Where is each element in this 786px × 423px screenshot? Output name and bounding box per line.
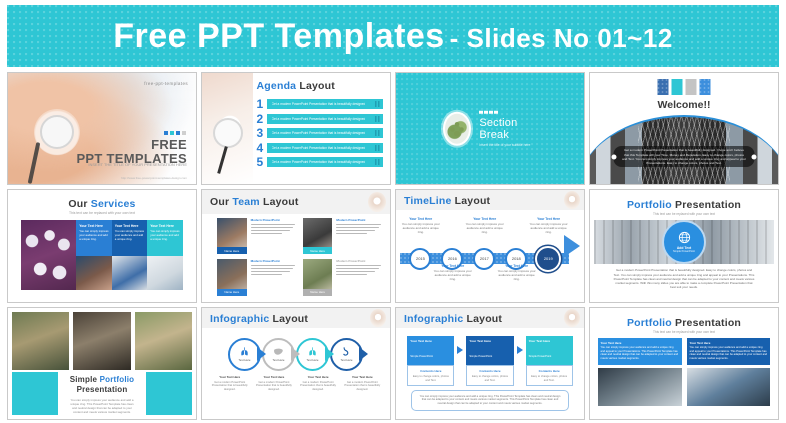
services-subtitle: This text can be replaced with your own … [8,211,196,215]
agenda-item-list: 1 Get a modern PowerPoint Presentation t… [257,99,383,172]
agenda-item-label: Get a modern PowerPoint Presentation tha… [272,160,366,164]
chevron-right-icon [291,347,300,361]
portfolio-panel-heading: Your Text Here [690,341,768,345]
timeline-caption: Your Text Here You can simply impress yo… [400,217,442,234]
infographic-step-label: Text Here [273,358,285,362]
infographic-caption-body: Get a modern PowerPoint Presentation tha… [256,381,292,391]
team-member-photo: Name Here [217,218,247,254]
portfolio-body-text: Get a modern PowerPoint Presentation tha… [613,268,756,289]
simple-portfolio-body: You can simply impress your audience and… [58,398,145,414]
portfolio-subtitle: This text can be replaced with your own … [590,330,778,334]
team-member-photo: Name Here [217,259,247,295]
agenda-item[interactable]: 3 Get a modern PowerPoint Presentation t… [257,128,383,138]
timeline-caption-body: You can simply impress your audience and… [434,269,472,281]
team-member-role: Modern PowerPoint [336,259,380,263]
services-card-photo [112,256,148,289]
child-photo [135,312,192,370]
agenda-item[interactable]: 4 Get a modern PowerPoint Presentation t… [257,143,383,153]
slide-thumb-our-team[interactable]: Our Team Layout Name Here Modern PowerPo… [201,189,391,302]
simple-title-line2: Presentation [58,385,145,394]
infographic-col-title: Your Text Here [529,339,570,343]
services-card-strip: Your Text Here You can simply impress yo… [21,220,183,289]
portfolio-title-accent: Portfolio [627,317,672,329]
services-title-pre: Our [68,198,90,210]
slide-thumb-our-services[interactable]: Our Services This text can be replaced w… [7,189,197,302]
timeline-arrow-icon [564,235,580,257]
infographic-col-title: Your Text Here [469,339,510,343]
cover-subtitle: INSERT THE TITLE OF YOUR PRESENTATION HE… [88,162,187,168]
slide-thumb-agenda[interactable]: Agenda Layout 1 Get a modern PowerPoint … [201,72,391,185]
accent-block-left [12,372,58,415]
timeline-caption-title: Your Text Here [400,217,442,221]
logo-text: free-ppt-templates [144,81,188,86]
portfolio-globe-badge[interactable]: Add Text Simple PowerPoint [662,220,706,264]
services-title-accent: Services [91,198,136,210]
simple-portfolio-caption: Simple Portfolio Presentation You can si… [58,372,145,415]
infographic-col-sub: Simple PowerPoint [410,355,433,358]
team-member-name: Name Here [217,289,247,296]
portfolio-title: Portfolio Presentation [590,317,778,329]
agenda-item-number: 3 [257,128,267,138]
slide-thumb-timeline[interactable]: TimeLine Layout 2015 2016 2017 2018 2019… [395,189,585,302]
infographic-title-rest: Layout [273,313,309,325]
agenda-item-label: Get a modern PowerPoint Presentation tha… [272,117,366,121]
infographic-column-row: Your Text HereSimple PowerPoint Contents… [407,336,572,387]
timeline-node-year: 2019 [544,256,553,261]
infographic-step-label: Text Here [239,358,251,362]
agenda-item-label: Get a modern PowerPoint Presentation tha… [272,146,366,150]
stethoscope-corner-photo [370,309,386,327]
lungs-icon [307,346,318,357]
team-title: Our Team Layout [210,196,299,208]
slide-thumb-simple-portfolio[interactable]: Simple Portfolio Presentation You can si… [7,307,197,420]
timeline-caption-title: Your Text Here [464,217,506,221]
portfolio-title-rest: Presentation [675,317,741,329]
portfolio-title: Portfolio Presentation [590,199,778,211]
infographic-box-body: Easy to change colors, photos and Text. [470,375,509,382]
infographic-box-title: Contents Here [470,369,509,373]
timeline-title: TimeLine Layout [404,195,490,207]
simple-title-pre: Simple [70,375,100,384]
services-card[interactable]: Your Text Here You can simply impress yo… [112,220,148,289]
timeline-node[interactable]: 2015 [409,248,431,270]
agenda-item[interactable]: 2 Get a modern PowerPoint Presentation t… [257,114,383,124]
timeline-caption: Your Text Here You can simply impress yo… [464,217,506,234]
timeline-caption-body: You can simply impress your audience and… [530,222,568,234]
timeline-node-year: 2018 [512,256,521,261]
infographic-col-sub: Simple PowerPoint [469,355,492,358]
agenda-item-bar: Get a modern PowerPoint Presentation tha… [267,157,383,167]
agenda-item-bar: Get a modern PowerPoint Presentation tha… [267,143,383,153]
services-card-body: You can simply impress your audience and… [115,230,145,241]
section-break-title: Section Break [479,117,537,141]
agenda-item-number: 4 [257,143,267,153]
infographic-footer-note: You can simply impress your audience and… [411,390,569,411]
child-photo [73,312,130,370]
color-swatches [658,79,711,95]
timeline-node-year: 2015 [416,256,425,261]
agenda-item-label: Get a modern PowerPoint Presentation tha… [272,102,366,106]
infographic-title: Infographic Layout [404,313,502,325]
agenda-item[interactable]: 5 Get a modern PowerPoint Presentation t… [257,157,383,167]
banner-title-sub: - Slides No 01~12 [450,23,673,53]
cover-title-line1: FREE [76,138,187,152]
portfolio-panel-pair: Your Text HereYou can simply impress you… [598,338,771,406]
team-member[interactable]: Name Here Modern PowerPoint [303,218,381,254]
infographic-caption-title: Your Text Here [255,376,293,380]
timeline-caption: Your Text Here You can simply impress yo… [432,264,474,281]
surgery-photo [687,368,771,406]
welcome-title: Welcome!! [658,99,711,111]
timeline-caption-body: You can simply impress your audience and… [402,222,440,234]
infographic-column[interactable]: Your Text HereSimple PowerPoint Contents… [407,336,454,387]
portfolio-subtitle: This text can be replaced with your own … [590,212,778,216]
team-member[interactable]: Name Here Modern PowerPoint [303,259,381,295]
agenda-item-bar: Get a modern PowerPoint Presentation tha… [267,128,383,138]
infographic-title: Infographic Layout [210,313,308,325]
portfolio-panel-body: You can simply impress your audience and… [601,346,679,360]
liver-icon [273,346,284,357]
stomach-icon [341,346,352,357]
accent-block-right [146,372,192,415]
team-member[interactable]: Name Here Modern PowerPoint [217,259,295,295]
infographic-caption-body: Get a modern PowerPoint Presentation tha… [300,381,336,391]
infographic-box-title: Contents Here [530,369,569,373]
slide-thumb-section-break[interactable]: Section Break Insert the title of your s… [395,72,585,185]
slide-thumb-cover[interactable]: free-ppt-templates FREE PPT TEMPLATES IN… [7,72,197,185]
agenda-item-bar: Get a modern PowerPoint Presentation tha… [267,99,383,109]
stethoscope-icon [40,115,74,149]
slide-thumb-portfolio-pair[interactable]: Portfolio Presentation This text can be … [589,307,779,420]
accent-squares [479,110,537,114]
infographic-col-sub: Simple PowerPoint [529,355,552,358]
infographic-caption: Your Text HereGet a modern PowerPoint Pr… [340,376,384,392]
services-card[interactable]: Your Text Here You can simply impress yo… [76,220,112,289]
team-member-photo: Name Here [303,259,333,295]
agenda-item-label: Get a modern PowerPoint Presentation tha… [272,131,366,135]
simple-portfolio-bottom: Simple Portfolio Presentation You can si… [12,372,192,415]
arrow-right-icon [457,346,463,354]
services-card-heading: Your Text Here [115,224,145,228]
services-card-body: You can simply impress your audience and… [79,230,109,241]
team-title-post: Layout [260,196,299,208]
infographic-step-label: Text Here [341,358,353,362]
services-title: Our Services [8,198,196,210]
timeline-caption: Your Text Here You can simply impress yo… [496,264,538,281]
accent-dots [164,131,186,135]
infographic-caption-title: Your Text Here [299,376,337,380]
infographic-box-body: Easy to change colors, photos and Text. [530,375,569,382]
section-break-subtitle: Insert the title of your subtitle here [479,143,537,147]
infographic-box-title: Contents Here [411,369,450,373]
simple-portfolio-photos [12,312,192,370]
infographic-title-rest: Layout [467,313,503,325]
services-card[interactable]: Your Text Here You can simply impress yo… [147,220,183,289]
infographic-box-body: Easy to change colors, photos and Text. [411,375,450,382]
agenda-item-number: 5 [257,157,267,167]
team-member-name: Name Here [217,247,247,254]
stethoscope-icon [213,118,243,148]
screenshot-root: Free PPT Templates - Slides No 01~12 fre… [0,0,786,423]
agenda-title: Agenda Layout [257,80,335,92]
team-title-accent: Team [232,196,259,208]
timeline-caption-body: You can simply impress your audience and… [498,269,536,281]
simple-title-accent: Portfolio [100,375,135,384]
team-member-name: Name Here [303,289,333,296]
infographic-title-accent: Infographic [210,313,269,325]
timeline-title-accent: TimeLine [404,195,452,207]
stethoscope-tube-icon [217,147,228,175]
team-member-name: Name Here [303,247,333,254]
services-card-heading: Your Text Here [79,224,109,228]
child-photo [12,312,69,370]
portfolio-badge-sub: Simple PowerPoint [673,250,695,253]
agenda-item-number: 2 [257,114,267,124]
services-card-photo [147,256,183,289]
agenda-item[interactable]: 1 Get a modern PowerPoint Presentation t… [257,99,383,109]
slide-thumb-infographic-organs[interactable]: Infographic Layout Text Here Text Here [201,307,391,420]
portfolio-title-accent: Portfolio [627,199,672,211]
agenda-side-photo [202,73,253,184]
surgery-photo [598,368,682,406]
agenda-item-bar: Get a modern PowerPoint Presentation tha… [267,114,383,124]
slide-thumb-welcome[interactable]: Welcome!! Get a modern PowerPoint Presen… [589,72,779,185]
portfolio-panel-heading: Your Text Here [601,341,679,345]
chevron-right-icon [257,347,266,361]
infographic-caption: Your Text HereGet a modern PowerPoint Pr… [296,376,340,392]
globe-icon [678,231,691,244]
banner-title: Free PPT Templates - Slides No 01~12 [113,17,673,56]
medical-emblem-icon [443,112,471,146]
team-title-pre: Our [210,196,232,208]
timeline-caption-title: Your Text Here [528,217,570,221]
services-hero-photo [21,220,76,289]
infographic-step-label: Text Here [307,358,319,362]
stethoscope-corner-photo [564,309,580,327]
infographic-caption-title: Your Text Here [211,376,249,380]
portfolio-panel[interactable]: Your Text HereYou can simply impress you… [598,338,682,406]
banner-title-main: Free PPT Templates [113,17,445,55]
infographic-column[interactable]: Your Text HereSimple PowerPoint Contents… [526,336,573,387]
timeline-caption-body: You can simply impress your audience and… [466,222,504,234]
timeline-caption: Your Text Here You can simply impress yo… [528,217,570,234]
infographic-col-title: Your Text Here [410,339,451,343]
infographic-caption-body: Get a modern PowerPoint Presentation tha… [212,381,248,391]
timeline-node-year: 2016 [448,256,457,261]
timeline-caption-title: Your Text Here [496,264,538,268]
infographic-step-chain: Text Here Text Here Text Here [211,338,380,371]
header-banner: Free PPT Templates - Slides No 01~12 [7,5,779,67]
infographic-caption: Your Text HereGet a modern PowerPoint Pr… [208,376,252,392]
timeline-title-rest: Layout [455,195,491,207]
infographic-caption: Your Text HereGet a modern PowerPoint Pr… [252,376,296,392]
infographic-column[interactable]: Your Text HereSimple PowerPoint Contents… [466,336,513,387]
agenda-item-number: 1 [257,99,267,109]
timeline-caption-title: Your Text Here [432,264,474,268]
cover-url: http://www.free-powerpoint-templates-des… [121,176,187,180]
timeline-node[interactable]: 2019 [537,248,559,270]
team-member-grid: Name Here Modern PowerPoint Name Here Mo… [217,218,381,295]
services-card-heading: Your Text Here [150,224,180,228]
slide-thumbnail-grid: free-ppt-templates FREE PPT TEMPLATES IN… [7,72,779,420]
services-card-body: You can simply impress your audience and… [150,230,180,241]
portfolio-panel-body: You can simply impress your audience and… [690,346,768,360]
agenda-title-rest: Layout [299,80,335,92]
team-member[interactable]: Name Here Modern PowerPoint [217,218,295,254]
team-member-role: Modern PowerPoint [251,259,295,263]
slide-thumb-infographic-boxes[interactable]: Infographic Layout Your Text HereSimple … [395,307,585,420]
portfolio-title-rest: Presentation [675,199,741,211]
team-member-photo: Name Here [303,218,333,254]
chevron-right-icon [359,347,368,361]
team-member-role: Modern PowerPoint [251,218,295,222]
arrow-right-icon [517,346,523,354]
slide-thumb-portfolio-globe[interactable]: Portfolio Presentation This text can be … [589,189,779,302]
timeline-node-year: 2017 [480,256,489,261]
services-card-photo [76,256,112,289]
team-member-role: Modern PowerPoint [336,218,380,222]
timeline-node[interactable]: 2017 [473,248,495,270]
welcome-body-capsule: Get a modern PowerPoint Presentation tha… [614,146,755,167]
infographic-caption-body: Get a modern PowerPoint Presentation tha… [344,381,380,391]
lungs-icon [239,346,250,357]
chevron-right-icon [325,347,334,361]
agenda-title-accent: Agenda [257,80,297,92]
infographic-title-accent: Infographic [404,313,463,325]
portfolio-panel[interactable]: Your Text HereYou can simply impress you… [687,338,771,406]
infographic-caption-row: Your Text HereGet a modern PowerPoint Pr… [208,376,385,392]
stethoscope-photo [8,73,196,184]
infographic-caption-title: Your Text Here [343,376,381,380]
